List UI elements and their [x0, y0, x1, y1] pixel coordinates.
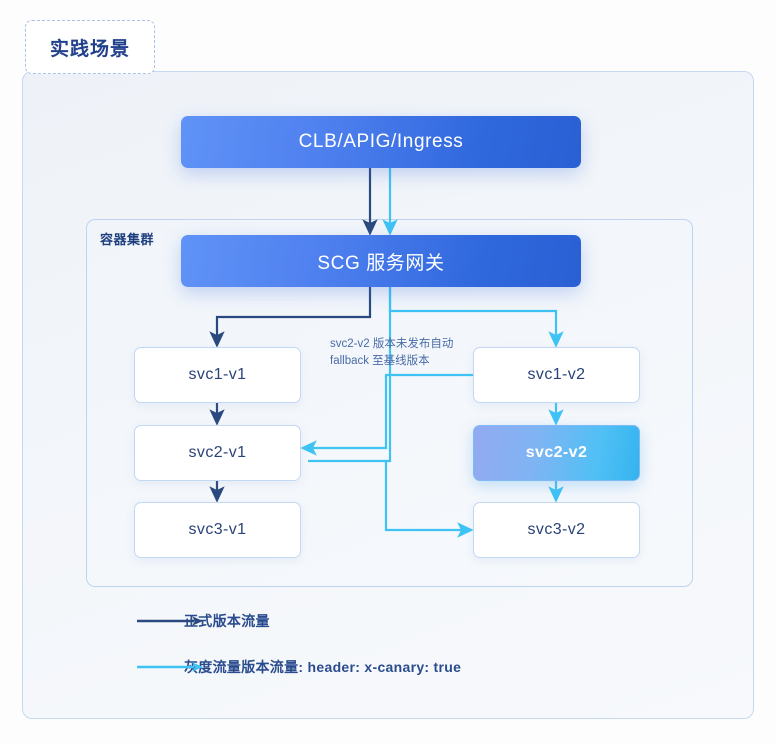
- node-svc3-v1[interactable]: svc3-v1: [134, 502, 301, 558]
- fallback-annotation: svc2-v2 版本未发布自动 fallback 至基线版本: [330, 336, 464, 370]
- legend-canary-label: 灰度流量版本流量: header: x-canary: true: [184, 657, 461, 677]
- legend-item-stable: 正式版本流量: [136, 604, 461, 638]
- node-svc1-v1[interactable]: svc1-v1: [134, 347, 301, 403]
- node-clb-apig-ingress[interactable]: CLB/APIG/Ingress: [181, 116, 581, 168]
- node-svc1-v1-label: svc1-v1: [189, 366, 247, 384]
- section-title-text: 实践场景: [50, 34, 130, 61]
- node-svc1-v2[interactable]: svc1-v2: [473, 347, 640, 403]
- node-svc2-v1-label: svc2-v1: [189, 444, 247, 462]
- node-scg-label: SCG 服务网关: [317, 248, 444, 275]
- node-svc3-v2-label: svc3-v2: [528, 521, 586, 539]
- node-clb-label: CLB/APIG/Ingress: [299, 131, 464, 153]
- node-svc1-v2-label: svc1-v2: [528, 366, 586, 384]
- legend-item-canary: 灰度流量版本流量: header: x-canary: true: [136, 650, 461, 684]
- stable-arrow-icon: [136, 614, 206, 628]
- legend: 正式版本流量 灰度流量版本流量: header: x-canary: true: [136, 604, 461, 684]
- node-svc3-v2[interactable]: svc3-v2: [473, 502, 640, 558]
- node-svc2-v1[interactable]: svc2-v1: [134, 425, 301, 481]
- canary-arrow-icon: [136, 660, 206, 674]
- node-svc2-v2[interactable]: svc2-v2: [473, 425, 640, 481]
- diagram-canvas: 实践场景 容器集群: [0, 0, 776, 743]
- container-cluster-label: 容器集群: [100, 229, 154, 248]
- node-svc2-v2-label: svc2-v2: [526, 444, 588, 462]
- node-svc3-v1-label: svc3-v1: [189, 521, 247, 539]
- section-title-badge: 实践场景: [25, 20, 155, 74]
- node-scg-gateway[interactable]: SCG 服务网关: [181, 235, 581, 287]
